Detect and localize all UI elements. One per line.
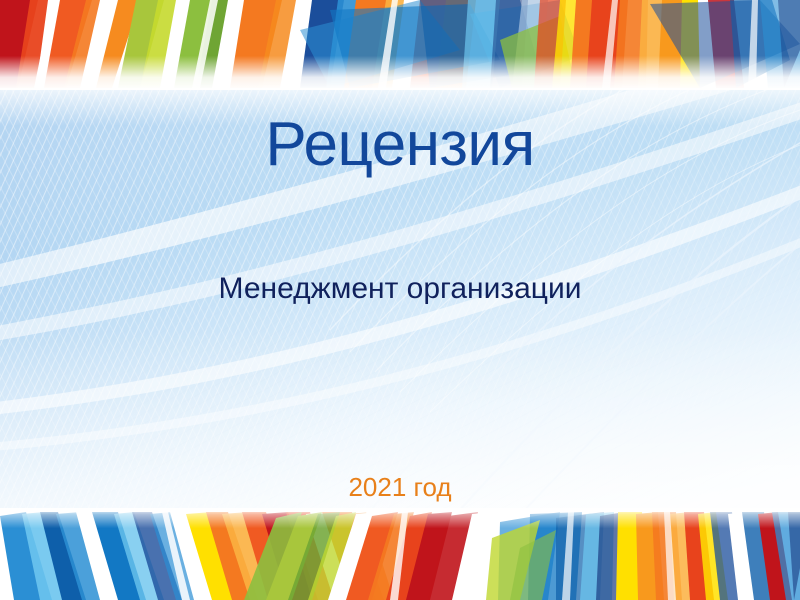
presentation-slide: Рецензия Менеджмент организации 2021 год <box>0 0 800 600</box>
slide-title: Рецензия <box>0 112 800 177</box>
slide-subtitle: Менеджмент организации <box>0 272 800 305</box>
slide-text-layer: Рецензия Менеджмент организации 2021 год <box>0 0 800 600</box>
slide-year: 2021 год <box>0 473 800 502</box>
